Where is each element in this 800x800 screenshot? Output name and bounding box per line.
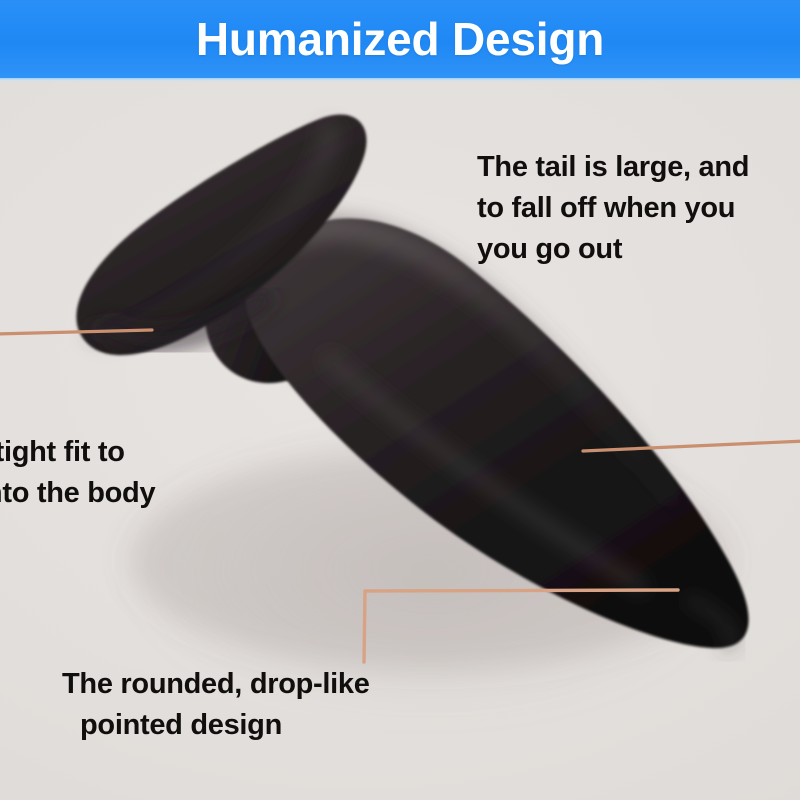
page-title: Humanized Design: [0, 11, 800, 67]
callout-fit: nd tight fit to g into the body: [0, 432, 282, 514]
callout-tail: The tail is large, and to fall off when …: [477, 147, 800, 270]
callout-tail-line-1: The tail is large, and: [477, 147, 800, 188]
callout-point-line-2: pointed design: [62, 705, 492, 746]
callout-tail-line-2: to fall off when you: [477, 188, 800, 229]
header-banner: Humanized Design: [0, 0, 800, 78]
callout-fit-line-2: g into the body: [0, 473, 282, 514]
callout-fit-line-1: nd tight fit to: [0, 432, 282, 473]
callout-point-line-1: The rounded, drop-like: [62, 664, 492, 705]
callout-tail-line-3: you go out: [477, 229, 800, 270]
infographic-page: Humanized Design The tail is large, and …: [0, 0, 800, 800]
callout-pointed-design: The rounded, drop-like pointed design: [62, 664, 492, 746]
banner-bottom-edge: [0, 78, 800, 82]
